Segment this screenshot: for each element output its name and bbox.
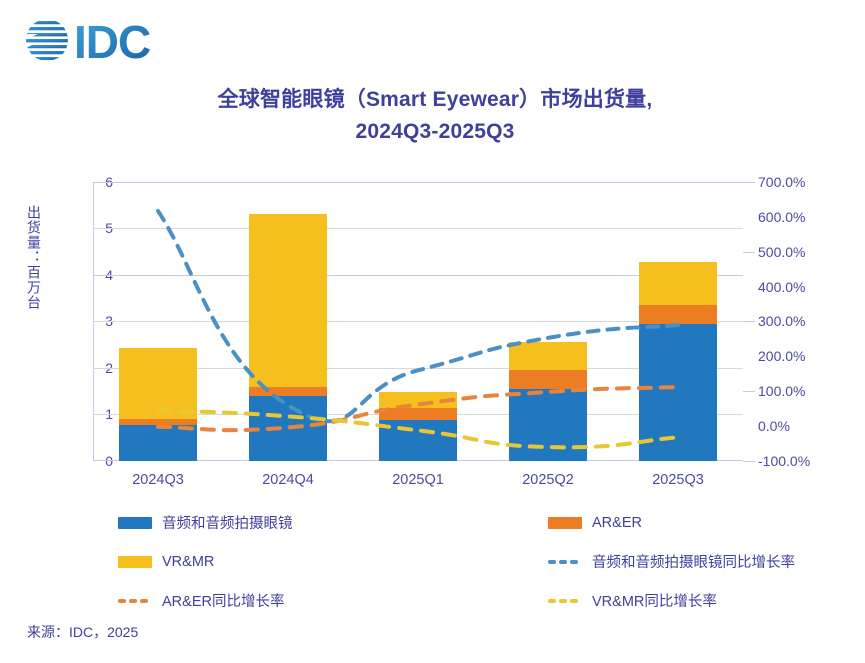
legend-label-2: VR&MR <box>162 554 214 570</box>
legend-dash <box>548 556 582 568</box>
x-tick-2025Q2: 2025Q2 <box>522 472 574 488</box>
y-tick-right-700: 700.0% <box>758 174 805 190</box>
chart-title-line-1: 全球智能眼镜（Smart Eyewear）市场出货量, <box>110 84 760 116</box>
legend-item-4[interactable]: AR&ER同比增长率 <box>118 590 548 611</box>
x-tick-2025Q3: 2025Q3 <box>652 472 704 488</box>
legend-item-3[interactable]: 音频和音频拍摄眼镜同比增长率 <box>548 551 838 572</box>
legend-label-1: AR&ER <box>592 515 642 531</box>
svg-text:IDC: IDC <box>74 16 150 66</box>
legend-item-2[interactable]: VR&MR <box>118 554 548 570</box>
line-series-1[interactable] <box>158 387 678 430</box>
y-tick-right-600: 600.0% <box>758 209 805 225</box>
legend-label-4: AR&ER同比增长率 <box>162 590 284 611</box>
growth-rate-lines <box>93 182 743 461</box>
y-tick-right-neg100: -100.0% <box>758 453 810 469</box>
legend-swatch <box>118 556 152 568</box>
y-tick-right-400: 400.0% <box>758 279 805 295</box>
legend-dash <box>118 595 152 607</box>
legend-label-3: 音频和音频拍摄眼镜同比增长率 <box>592 551 795 572</box>
legend-dash <box>548 595 582 607</box>
x-tick-2025Q1: 2025Q1 <box>392 472 444 488</box>
legend-item-1[interactable]: AR&ER <box>548 515 838 531</box>
legend-swatch <box>548 517 582 529</box>
y-tick-right-500: 500.0% <box>758 244 805 260</box>
source-note: 来源：IDC，2025 <box>27 622 138 642</box>
idc-logo: IDC <box>22 14 202 66</box>
chart-title: 全球智能眼镜（Smart Eyewear）市场出货量, 2024Q3-2025Q… <box>110 84 760 148</box>
y-tick-right-100: 100.0% <box>758 383 805 399</box>
legend-item-5[interactable]: VR&MR同比增长率 <box>548 590 838 611</box>
x-tick-2024Q3: 2024Q3 <box>132 472 184 488</box>
legend-swatch <box>118 517 152 529</box>
y-tick-right-200: 200.0% <box>758 348 805 364</box>
y-tick-right-300: 300.0% <box>758 313 805 329</box>
y-axis-left-title: 出货量：百万台 <box>24 205 44 310</box>
chart-plot-area <box>93 182 743 461</box>
x-tick-2024Q4: 2024Q4 <box>262 472 314 488</box>
chart-title-line-2: 2024Q3-2025Q3 <box>110 116 760 148</box>
legend-item-0[interactable]: 音频和音频拍摄眼镜 <box>118 512 548 533</box>
y-tick-right-0: 0.0% <box>758 418 790 434</box>
legend-label-5: VR&MR同比增长率 <box>592 590 717 611</box>
chart-legend: 音频和音频拍摄眼镜AR&ERVR&MR音频和音频拍摄眼镜同比增长率AR&ER同比… <box>118 512 838 611</box>
legend-label-0: 音频和音频拍摄眼镜 <box>162 512 293 533</box>
